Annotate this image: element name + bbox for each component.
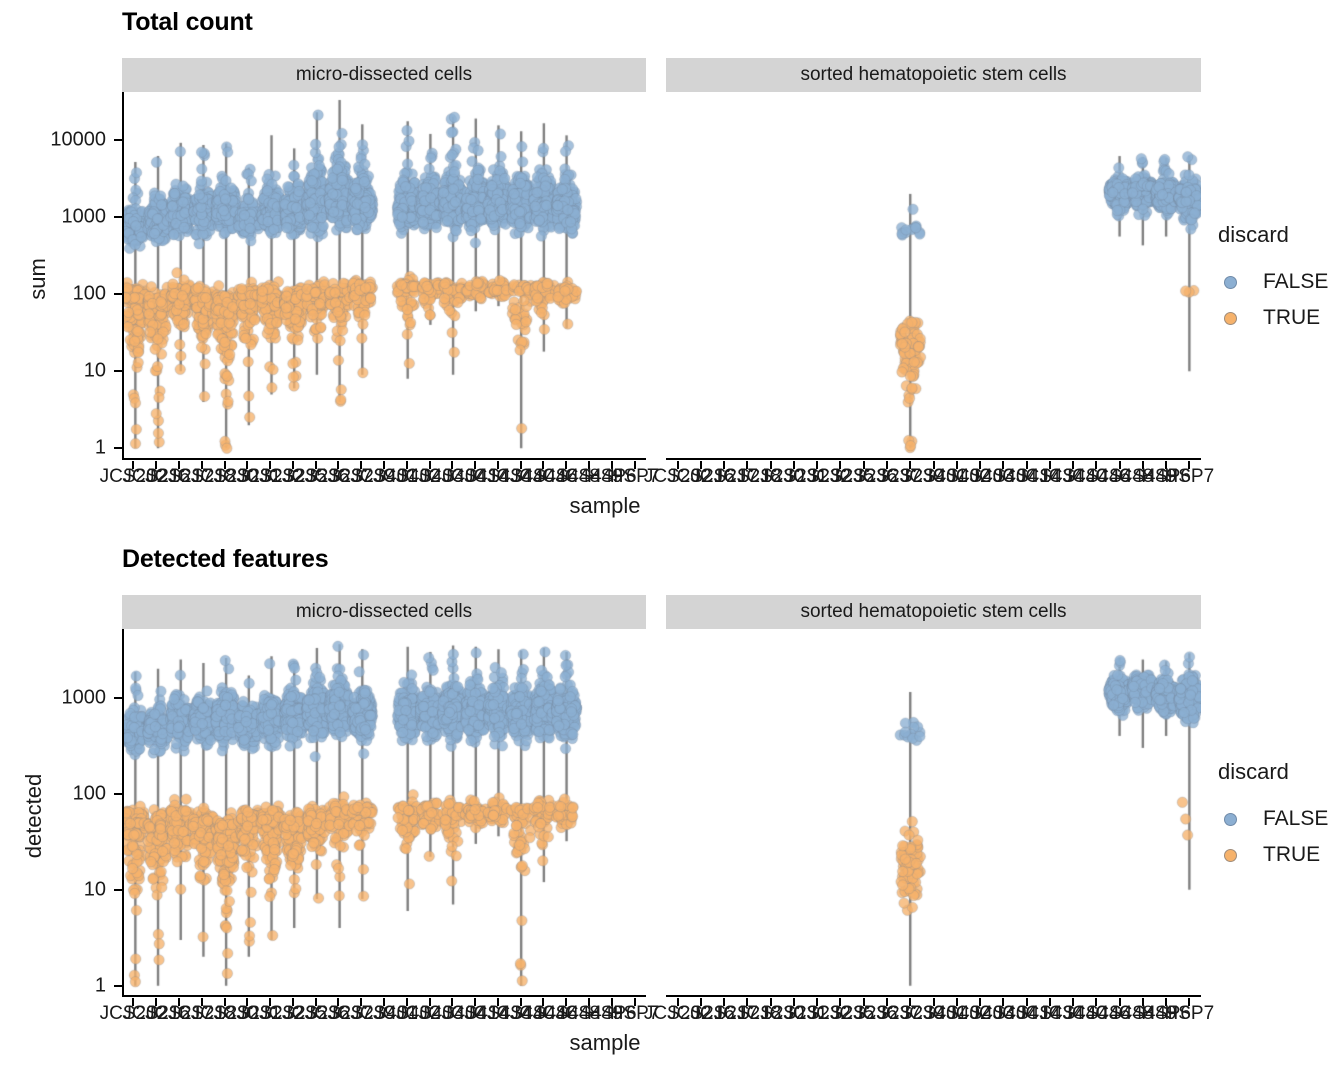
legend-title: discard xyxy=(1218,222,1289,248)
y-tick-label: 1 xyxy=(95,974,106,997)
y-tick-mark xyxy=(114,447,122,449)
facet-strip-sorted-hsc: sorted hematopoietic stem cells xyxy=(666,58,1201,92)
y-tick-mark xyxy=(114,793,122,795)
y-tick-mark xyxy=(114,293,122,295)
y-tick-label: 100 xyxy=(73,283,106,306)
y-tick-label: 10000 xyxy=(50,129,106,152)
legend-item-true[interactable]: TRUE xyxy=(1224,843,1320,867)
y-tick-mark xyxy=(114,216,122,218)
panel-micro-dissected-detected xyxy=(122,629,646,997)
facet-strip-label: micro-dissected cells xyxy=(296,64,472,86)
plot-detected-features: Detected features micro-dissected cells … xyxy=(0,537,1344,1075)
facet-strip-sorted-hsc: sorted hematopoietic stem cells xyxy=(666,595,1201,629)
legend-title: discard xyxy=(1218,759,1289,785)
facet-strip-label: micro-dissected cells xyxy=(296,601,472,623)
page-title-detected-features: Detected features xyxy=(122,545,328,574)
scatter-canvas xyxy=(124,92,646,458)
legend-discard: discard FALSE TRUE xyxy=(1218,222,1344,332)
y-axis-title-sum: sum xyxy=(25,219,51,339)
y-tick-mark xyxy=(114,697,122,699)
facet-strip-micro-dissected: micro-dissected cells xyxy=(122,595,646,629)
y-tick-label: 10 xyxy=(84,878,106,901)
y-tick-mark xyxy=(114,370,122,372)
legend-item-true[interactable]: TRUE xyxy=(1224,306,1320,330)
facet-strip-micro-dissected: micro-dissected cells xyxy=(122,58,646,92)
plot-total-count: Total count micro-dissected cells sorted… xyxy=(0,0,1344,537)
y-tick-mark xyxy=(114,889,122,891)
panel-micro-dissected-total xyxy=(122,92,646,460)
legend-key-true xyxy=(1224,312,1237,325)
x-axis-title-sample: sample xyxy=(55,493,1155,519)
x-axis-title-sample: sample xyxy=(55,1030,1155,1056)
legend-label-false: FALSE xyxy=(1263,807,1328,831)
facet-strip-label: sorted hematopoietic stem cells xyxy=(800,64,1066,86)
y-tick-mark xyxy=(114,139,122,141)
legend-item-false[interactable]: FALSE xyxy=(1224,270,1328,294)
scatter-canvas xyxy=(666,629,1201,995)
x-tick-label: HSP7 xyxy=(1165,466,1215,488)
y-tick-label: 1 xyxy=(95,437,106,460)
panel-sorted-hsc-total xyxy=(666,92,1201,460)
legend-key-false xyxy=(1224,813,1237,826)
y-tick-label: 1000 xyxy=(62,686,107,709)
y-tick-label: 1000 xyxy=(62,206,107,229)
scatter-canvas xyxy=(124,629,646,995)
figure-root: Total count micro-dissected cells sorted… xyxy=(0,0,1344,1075)
scatter-canvas xyxy=(666,92,1201,458)
legend-label-true: TRUE xyxy=(1263,843,1320,867)
panel-sorted-hsc-detected xyxy=(666,629,1201,997)
y-tick-mark xyxy=(114,985,122,987)
facet-strip-label: sorted hematopoietic stem cells xyxy=(800,601,1066,623)
legend-discard: discard FALSE TRUE xyxy=(1218,759,1344,869)
legend-key-true xyxy=(1224,849,1237,862)
y-tick-label: 100 xyxy=(73,782,106,805)
legend-label-true: TRUE xyxy=(1263,306,1320,330)
legend-item-false[interactable]: FALSE xyxy=(1224,807,1328,831)
legend-key-false xyxy=(1224,276,1237,289)
legend-label-false: FALSE xyxy=(1263,270,1328,294)
page-title-total-count: Total count xyxy=(122,8,253,37)
y-axis-title-detected: detected xyxy=(21,756,47,876)
y-tick-label: 10 xyxy=(84,360,106,383)
x-tick-label: HSP7 xyxy=(1165,1003,1215,1025)
